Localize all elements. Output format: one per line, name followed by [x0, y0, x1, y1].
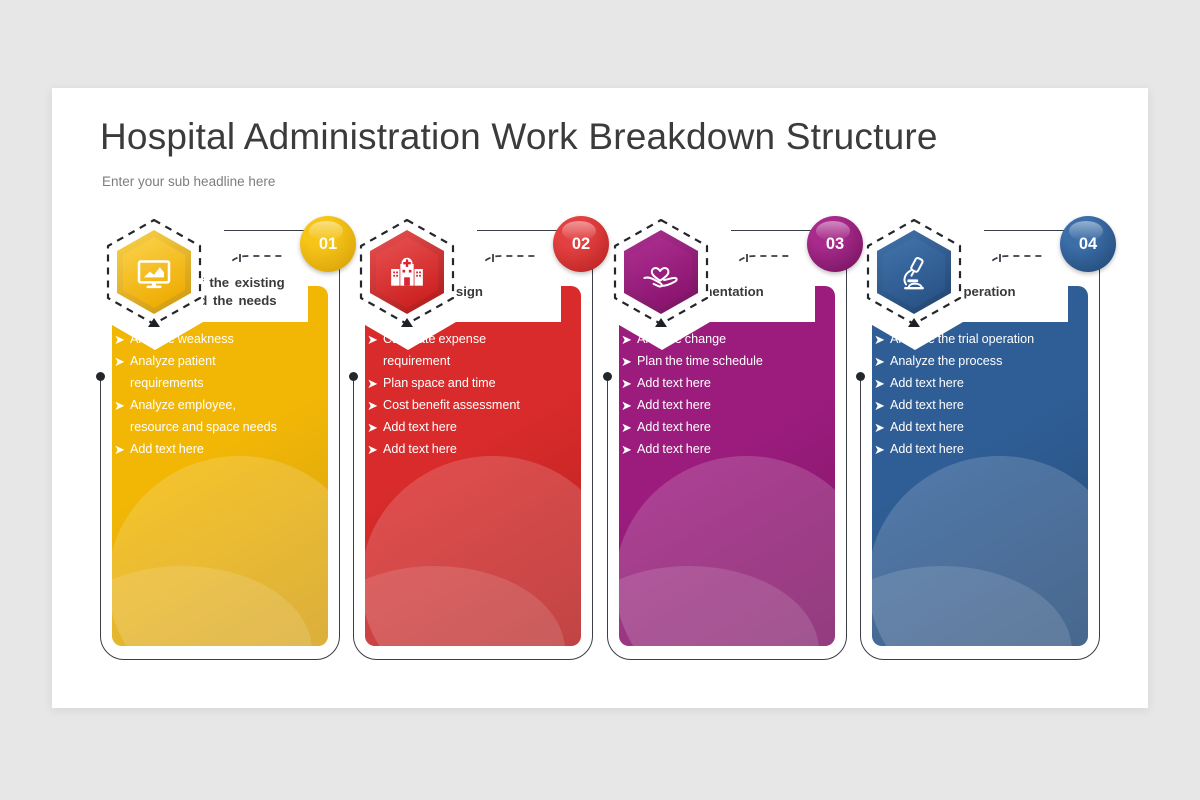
microscope-hexagon[interactable]: [854, 214, 974, 334]
bullet-item: ➤ Plan space and time: [367, 374, 563, 394]
bullet-text: Plan space and time: [383, 374, 496, 393]
step-number-text: 02: [572, 235, 590, 254]
bullet-text: Analyze employee,: [130, 396, 236, 415]
bullet-arrow-icon: ➤: [874, 440, 890, 459]
hexagon-pointer-triangle: [401, 318, 413, 327]
step-number-text: 04: [1079, 235, 1097, 254]
hexagon-pointer-triangle: [908, 318, 920, 327]
bullet-item: ➤ Add text here: [621, 440, 817, 460]
slide-canvas: Hospital Administration Work Breakdown S…: [52, 88, 1148, 708]
bullet-arrow-icon: ➤: [367, 418, 383, 437]
bullet-item: ➤ Cost benefit assessment: [367, 396, 563, 416]
bullet-item: ➤ Analyze patient: [114, 352, 310, 372]
bullet-arrow-icon: ➤: [114, 440, 130, 459]
bullet-text: requirement: [383, 352, 450, 371]
bullet-text: Add text here: [637, 418, 711, 437]
bullet-item: ➤ Add text here: [621, 418, 817, 438]
bullet-text: Add text here: [637, 440, 711, 459]
step-number-text: 03: [826, 235, 844, 254]
bullet-item: ➤ Add text here: [114, 440, 310, 460]
monitor-chart-icon: [94, 214, 214, 334]
bullet-item: ➤ Add text here: [367, 440, 563, 460]
step-number-text: 01: [319, 235, 337, 254]
bullet-arrow-icon: ➤: [874, 374, 890, 393]
bullet-arrow-icon: ➤: [621, 418, 637, 437]
bullet-item: ➤ Analyze the process: [874, 352, 1070, 372]
bullet-arrow-icon: ➤: [621, 396, 637, 415]
bullet-arrow-icon: ➤: [114, 396, 130, 415]
hexagon-pointer-triangle: [655, 318, 667, 327]
page-title: Hospital Administration Work Breakdown S…: [100, 116, 938, 158]
bullet-text: Cost benefit assessment: [383, 396, 520, 415]
step-number-badge[interactable]: 03: [807, 216, 863, 272]
bullet-item: ➤ Add text here: [621, 374, 817, 394]
bullet-arrow-icon: ➤: [367, 440, 383, 459]
hand-heart-icon: [601, 214, 721, 334]
bullet-item: ➤ Add text here: [621, 396, 817, 416]
bullet-arrow-icon: ➤: [621, 374, 637, 393]
bullet-item: ➤ Add text here: [874, 374, 1070, 394]
bullet-text: Analyze the process: [890, 352, 1002, 371]
wbs-column-04: 04 Trial Operation ➤ Analyze the trial o…: [860, 230, 1100, 660]
bullet-item: ➤ requirement: [367, 352, 563, 372]
bullet-item: ➤ Add text here: [874, 418, 1070, 438]
wbs-column-03: 03 Implementation ➤ Analyze change ➤ Pla…: [607, 230, 847, 660]
bullet-arrow-icon: ➤: [114, 352, 130, 371]
rail-dot: [96, 372, 105, 381]
bullet-text: Add text here: [890, 440, 964, 459]
bullet-text: Add text here: [890, 374, 964, 393]
bullet-arrow-icon: ➤: [367, 396, 383, 415]
bullet-text: resource and space needs: [130, 418, 277, 437]
bullet-arrow-icon: ➤: [874, 418, 890, 437]
monitor-chart-hexagon[interactable]: [94, 214, 214, 334]
page-subtitle: Enter your sub headline here: [102, 174, 275, 189]
bullet-text: Add text here: [637, 396, 711, 415]
step-number-badge[interactable]: 02: [553, 216, 609, 272]
microscope-icon: [854, 214, 974, 334]
bullet-item: ➤ Plan the time schedule: [621, 352, 817, 372]
bullet-arrow-icon: ➤: [874, 352, 890, 371]
bullet-item: ➤ Add text here: [367, 418, 563, 438]
hexagon-pointer-triangle: [148, 318, 160, 327]
bullet-item: ➤ resource and space needs: [114, 418, 310, 438]
bullet-text: Plan the time schedule: [637, 352, 763, 371]
bullet-text: Analyze patient: [130, 352, 216, 371]
bullet-text: Add text here: [890, 418, 964, 437]
bullet-item: ➤ requirements: [114, 374, 310, 394]
hand-heart-hexagon[interactable]: [601, 214, 721, 334]
rail-dot: [603, 372, 612, 381]
bullet-text: Add text here: [637, 374, 711, 393]
step-number-badge[interactable]: 04: [1060, 216, 1116, 272]
wbs-column-02: 02 Design ➤ Calculate expense ➤ requirem…: [353, 230, 593, 660]
bullet-arrow-icon: ➤: [874, 396, 890, 415]
bullet-text: requirements: [130, 374, 204, 393]
bullet-arrow-icon: ➤: [367, 374, 383, 393]
wbs-column-01: 01 Analysis of the existing status and t…: [100, 230, 340, 660]
hospital-building-icon: [347, 214, 467, 334]
bullet-arrow-icon: ➤: [621, 352, 637, 371]
hospital-building-hexagon[interactable]: [347, 214, 467, 334]
bullet-item: ➤ Add text here: [874, 440, 1070, 460]
rail-dot: [349, 372, 358, 381]
bullet-text: Add text here: [130, 440, 204, 459]
step-number-badge[interactable]: 01: [300, 216, 356, 272]
bullet-text: Add text here: [890, 396, 964, 415]
bullet-item: ➤ Analyze employee,: [114, 396, 310, 416]
bullet-arrow-icon: ➤: [621, 440, 637, 459]
bullet-text: Add text here: [383, 418, 457, 437]
bullet-text: Add text here: [383, 440, 457, 459]
bullet-item: ➤ Add text here: [874, 396, 1070, 416]
rail-dot: [856, 372, 865, 381]
